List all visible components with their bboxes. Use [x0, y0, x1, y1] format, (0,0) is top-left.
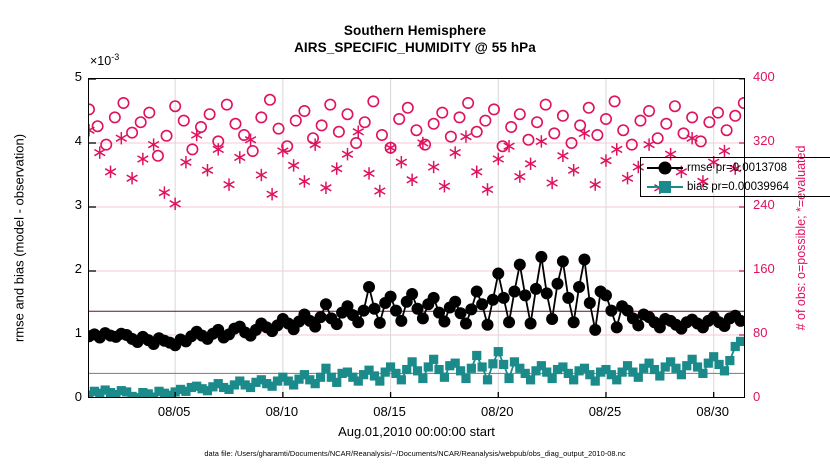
- plot-clip: [89, 79, 744, 397]
- legend-item-rmse: rmse pr=0.0013708: [641, 158, 830, 178]
- x-axis-tick-label: 08/20: [467, 404, 527, 419]
- x-axis-tick-label: 08/30: [683, 404, 743, 419]
- y-axis-multiplier-base: ×10: [90, 54, 111, 68]
- y-axis-left-tick-label: 5: [52, 69, 82, 84]
- legend-item-bias: bias pr=0.00039964: [641, 177, 830, 197]
- y-axis-left-tick-label: 0: [52, 389, 82, 404]
- legend-label-bias: bias pr=0.00039964: [687, 181, 789, 193]
- x-axis-tick-label: 08/25: [575, 404, 635, 419]
- x-axis-title: Aug.01,2010 00:00:00 start: [88, 424, 745, 439]
- title-line-region: Southern Hemisphere: [0, 22, 830, 39]
- data-layer: [89, 79, 744, 397]
- y-axis-left-tick-label: 4: [52, 133, 82, 148]
- y-axis-right-tick-label: 160: [753, 261, 775, 276]
- legend-marker-rmse-icon: [645, 158, 685, 178]
- y-axis-right-tick-label: 240: [753, 197, 775, 212]
- y-axis-right-tick-label: 0: [753, 389, 760, 404]
- legend-marker-bias-icon: [645, 177, 685, 197]
- y-axis-left-title-text: rmse and bias (model - observation): [12, 134, 27, 342]
- data-file-caption: data file: /Users/gharamti/Documents/NCA…: [0, 449, 830, 458]
- y-axis-left-tick-label: 2: [52, 261, 82, 276]
- x-axis-tick-label: 08/15: [360, 404, 420, 419]
- x-axis-tick-label: 08/10: [252, 404, 312, 419]
- chart-title: Southern Hemisphere AIRS_SPECIFIC_HUMIDI…: [0, 22, 830, 56]
- title-line-variable: AIRS_SPECIFIC_HUMIDITY @ 55 hPa: [0, 39, 830, 56]
- y-axis-right-tick-label: 320: [753, 133, 775, 148]
- y-axis-right-title: # of obs: o=possible; *=evaluated: [790, 78, 812, 398]
- plot-area: rmse pr=0.0013708 bias pr=0.00039964: [88, 78, 745, 398]
- y-axis-right-tick-label: 400: [753, 69, 775, 84]
- y-axis-multiplier: ×10-3: [90, 52, 119, 68]
- x-axis-tick-label: 08/05: [144, 404, 204, 419]
- y-axis-left-tick-label: 1: [52, 325, 82, 340]
- chart-screenshot: Southern Hemisphere AIRS_SPECIFIC_HUMIDI…: [0, 0, 830, 470]
- y-axis-multiplier-exponent: -3: [111, 52, 119, 62]
- y-axis-right-tick-label: 80: [753, 325, 767, 340]
- legend-label-rmse: rmse pr=0.0013708: [687, 162, 787, 174]
- y-axis-left-tick-label: 3: [52, 197, 82, 212]
- chart-legend: rmse pr=0.0013708 bias pr=0.00039964: [640, 157, 830, 197]
- y-axis-left-title: rmse and bias (model - observation): [8, 78, 30, 398]
